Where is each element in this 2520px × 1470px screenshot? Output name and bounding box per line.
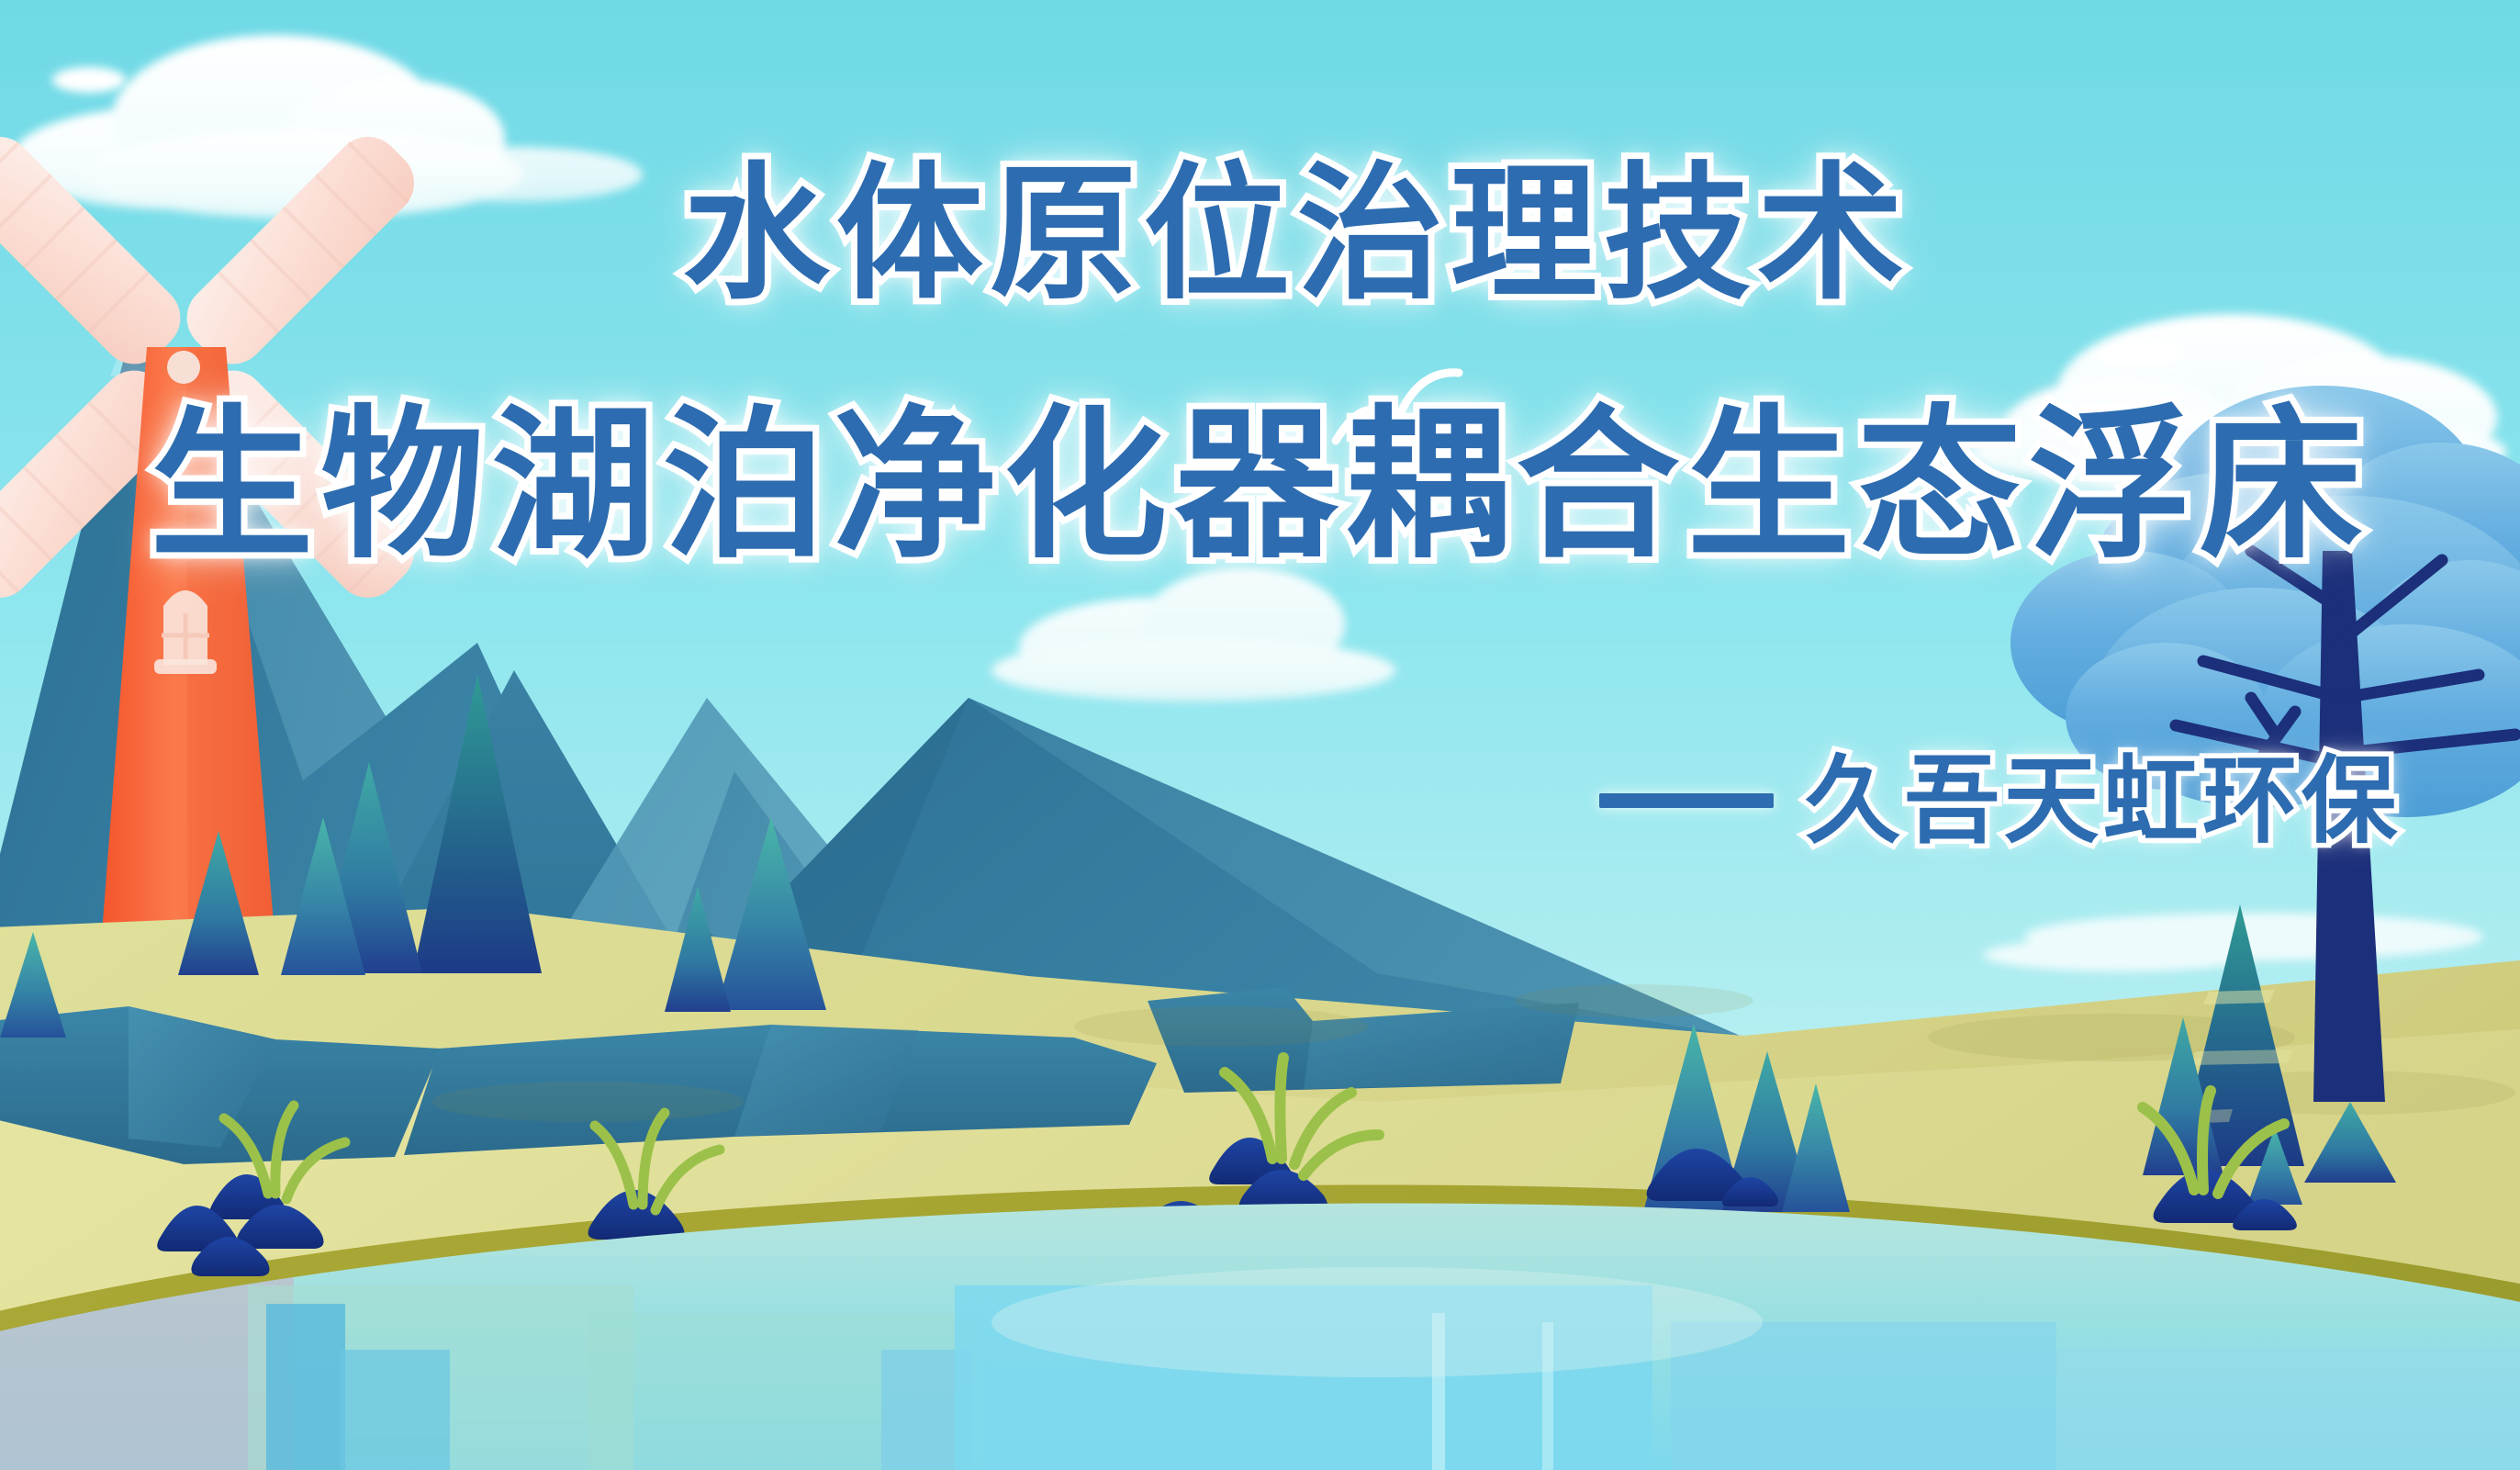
poster-canvas: 水体原位治理技术 生物湖泊净化器耦合生态浮床 久吾天虹环保 [0, 0, 2520, 1470]
big-tree [0, 0, 2520, 1470]
